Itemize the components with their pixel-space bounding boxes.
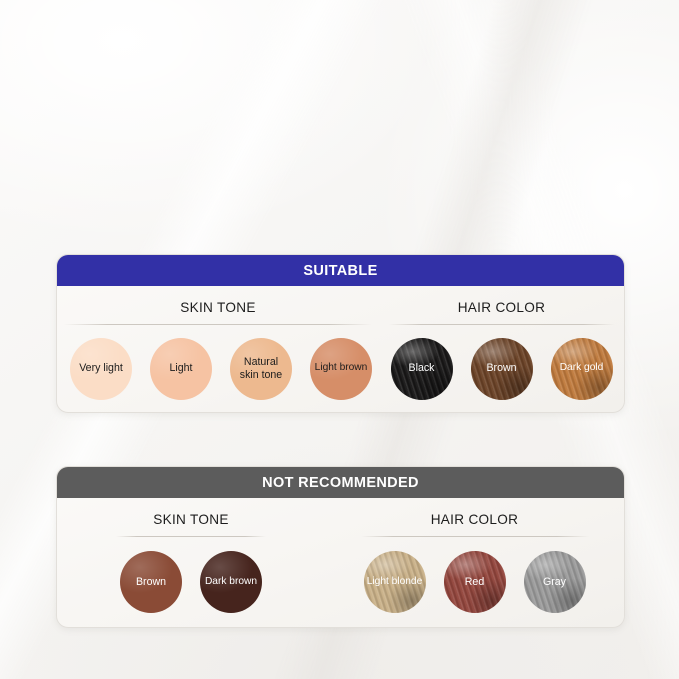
swatch-row-skin-tone-suitable: Very light Light Natural skin tone Light… bbox=[64, 325, 372, 412]
card-not-recommended-body: SKIN TONE Brown Dark brown HAIR COLOR Li… bbox=[57, 498, 624, 627]
column-title-hair-color: HAIR COLOR bbox=[431, 512, 519, 527]
swatch-label: Very light bbox=[77, 362, 125, 375]
card-suitable: SUITABLE SKIN TONE Very light Light Natu… bbox=[56, 254, 625, 413]
column-hair-color-not-recommended: HAIR COLOR Light blonde Red Gray bbox=[325, 498, 624, 627]
column-title-hair-color: HAIR COLOR bbox=[458, 300, 546, 315]
card-suitable-header: SUITABLE bbox=[57, 255, 624, 286]
swatch-red[interactable]: Red bbox=[444, 551, 506, 613]
swatch-brown[interactable]: Brown bbox=[120, 551, 182, 613]
card-not-recommended-header: NOT RECOMMENDED bbox=[57, 467, 624, 498]
swatch-label: Brown bbox=[134, 576, 168, 589]
swatch-label: Dark gold bbox=[558, 362, 606, 374]
page-root: CHECK. IS IPL SUITABLE FOR YOU? The IPL … bbox=[0, 0, 679, 679]
swatch-label: Red bbox=[463, 576, 486, 589]
column-title-skin-tone: SKIN TONE bbox=[180, 300, 255, 315]
swatch-natural-skin-tone[interactable]: Natural skin tone bbox=[230, 338, 292, 400]
card-suitable-body: SKIN TONE Very light Light Natural skin … bbox=[57, 286, 624, 412]
column-hair-color-suitable: HAIR COLOR Black Brown Dark gold bbox=[379, 286, 624, 412]
swatch-gray[interactable]: Gray bbox=[524, 551, 586, 613]
swatch-dark-gold[interactable]: Dark gold bbox=[551, 338, 613, 400]
swatch-row-hair-color-suitable: Black Brown Dark gold bbox=[391, 325, 613, 412]
column-skin-tone-not-recommended: SKIN TONE Brown Dark brown bbox=[57, 498, 325, 627]
swatch-label: Light brown bbox=[313, 362, 370, 374]
swatch-light[interactable]: Light bbox=[150, 338, 212, 400]
swatch-label: Dark brown bbox=[203, 576, 259, 588]
card-not-recommended: NOT RECOMMENDED SKIN TONE Brown Dark bro… bbox=[56, 466, 625, 628]
swatch-light-blonde[interactable]: Light blonde bbox=[364, 551, 426, 613]
swatch-label: Light blonde bbox=[365, 576, 425, 588]
swatch-brown[interactable]: Brown bbox=[471, 338, 533, 400]
swatch-light-brown[interactable]: Light brown bbox=[310, 338, 372, 400]
swatch-label: Brown bbox=[484, 362, 518, 375]
swatch-label: Black bbox=[407, 362, 437, 375]
swatch-label: Natural skin tone bbox=[238, 356, 284, 381]
column-title-skin-tone: SKIN TONE bbox=[153, 512, 228, 527]
swatch-row-hair-color-not-recommended: Light blonde Red Gray bbox=[364, 537, 586, 627]
swatch-dark-brown[interactable]: Dark brown bbox=[200, 551, 262, 613]
swatch-very-light[interactable]: Very light bbox=[70, 338, 132, 400]
swatch-black[interactable]: Black bbox=[391, 338, 453, 400]
swatch-label: Gray bbox=[541, 576, 568, 589]
column-skin-tone-suitable: SKIN TONE Very light Light Natural skin … bbox=[57, 286, 379, 412]
swatch-row-skin-tone-not-recommended: Brown Dark brown bbox=[120, 537, 262, 627]
swatch-label: Light bbox=[168, 362, 195, 375]
